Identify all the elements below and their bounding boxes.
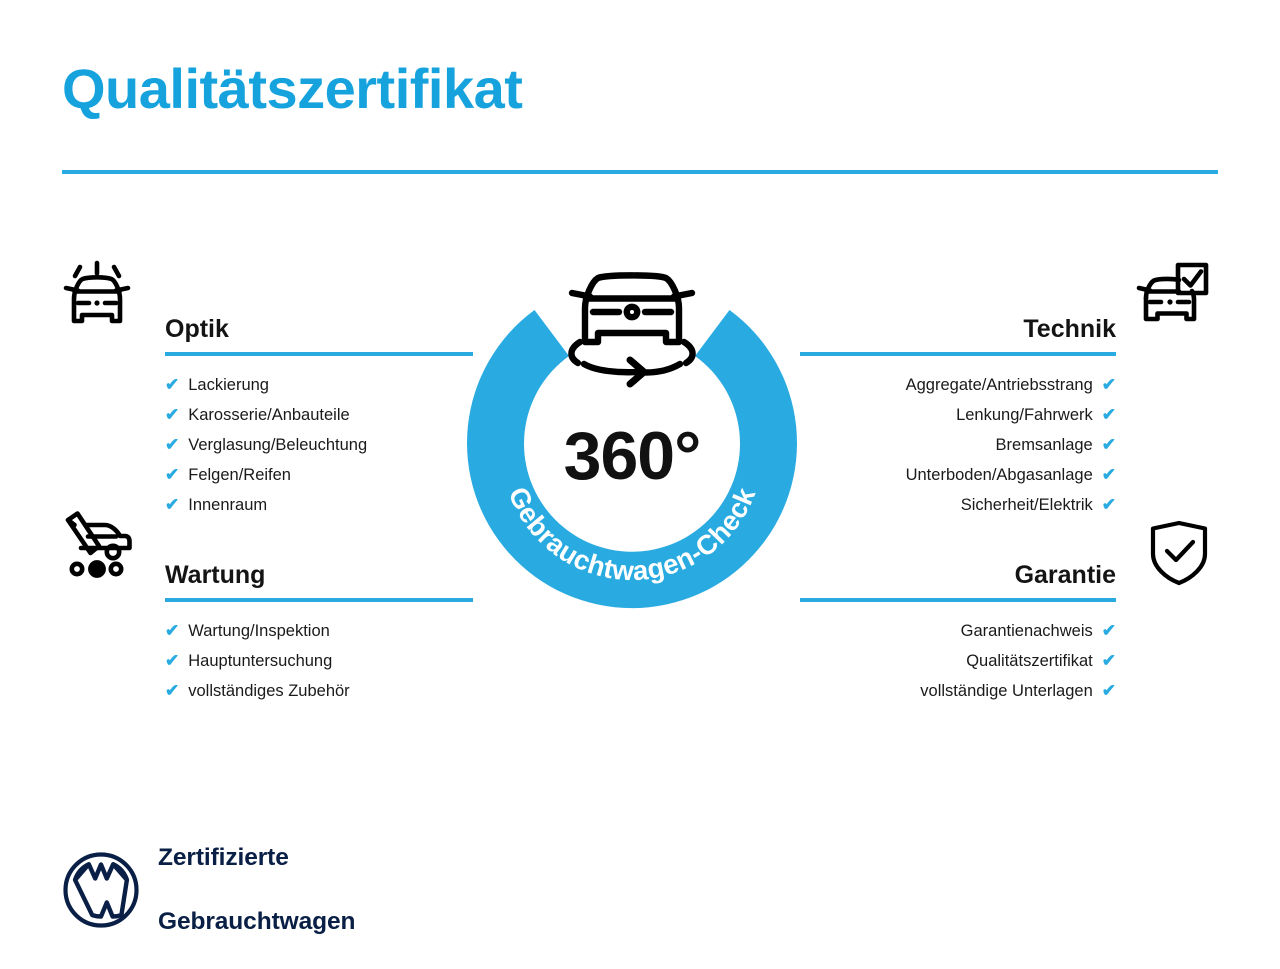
list-item: ✔vollständiges Zubehör [165, 676, 473, 706]
list-item-label: Hauptuntersuchung [188, 646, 332, 676]
vw-lockup-line2: Gebrauchtwagen [158, 906, 355, 938]
pencil-car-service-icon [58, 506, 136, 584]
car-shine-icon [58, 258, 136, 336]
section-optik-title: Optik [165, 317, 229, 342]
check-icon: ✔ [165, 676, 179, 706]
list-item-label: Innenraum [188, 490, 267, 520]
list-item: ✔Innenraum [165, 490, 473, 520]
check-icon: ✔ [165, 400, 179, 430]
car-rotation-360-icon [571, 275, 692, 384]
badge-360-gebrauchtwagen-check: Gebrauchtwagen-Check 360° [462, 248, 802, 620]
section-optik-header: Optik [165, 300, 473, 342]
section-garantie-divider [800, 598, 1116, 602]
list-item-label: vollständiges Zubehör [188, 676, 349, 706]
section-technik: Technik Aggregate/Antriebsstrang✔ Lenkun… [800, 300, 1116, 520]
check-icon: ✔ [165, 646, 179, 676]
page-title: Qualitätszertifikat [62, 58, 522, 120]
list-item: ✔Karosserie/Anbauteile [165, 400, 473, 430]
list-item: ✔Felgen/Reifen [165, 460, 473, 490]
list-item-label: Wartung/Inspektion [188, 616, 330, 646]
list-item: Bremsanlage✔ [800, 430, 1116, 460]
title-divider [62, 170, 1218, 174]
check-icon: ✔ [165, 370, 179, 400]
list-item-label: Felgen/Reifen [188, 460, 291, 490]
check-icon: ✔ [1102, 370, 1116, 400]
section-optik-list: ✔Lackierung ✔Karosserie/Anbauteile ✔Verg… [165, 370, 473, 520]
vw-lockup-line1: Zertifizierte [158, 842, 355, 874]
section-technik-divider [800, 352, 1116, 356]
section-technik-header: Technik [800, 300, 1116, 342]
section-wartung: Wartung ✔Wartung/Inspektion ✔Hauptunters… [165, 546, 473, 706]
list-item-label: Lackierung [188, 370, 269, 400]
section-garantie-list: Garantienachweis✔ Qualitätszertifikat✔ v… [800, 616, 1116, 706]
vw-logo-icon [62, 851, 140, 929]
list-item: ✔Lackierung [165, 370, 473, 400]
list-item: ✔Hauptuntersuchung [165, 646, 473, 676]
check-icon: ✔ [1102, 646, 1116, 676]
check-icon: ✔ [1102, 676, 1116, 706]
section-garantie-title: Garantie [1015, 563, 1116, 588]
section-garantie-header: Garantie [800, 546, 1116, 588]
list-item-label: Unterboden/Abgasanlage [906, 460, 1093, 490]
section-optik: Optik ✔Lackierung ✔Karosserie/Anbauteile… [165, 300, 473, 520]
section-garantie: Garantie Garantienachweis✔ Qualitätszert… [800, 546, 1116, 706]
section-wartung-header: Wartung [165, 546, 473, 588]
list-item-label: Verglasung/Beleuchtung [188, 430, 367, 460]
list-item: Aggregate/Antriebsstrang✔ [800, 370, 1116, 400]
check-icon: ✔ [1102, 460, 1116, 490]
check-icon: ✔ [1102, 490, 1116, 520]
shield-check-icon [1143, 516, 1215, 588]
list-item: ✔Wartung/Inspektion [165, 616, 473, 646]
list-item-label: Bremsanlage [996, 430, 1093, 460]
section-wartung-title: Wartung [165, 563, 265, 588]
list-item: Lenkung/Fahrwerk✔ [800, 400, 1116, 430]
badge-center-label: 360° [564, 418, 701, 494]
list-item: ✔Verglasung/Beleuchtung [165, 430, 473, 460]
vw-lockup-text: Zertifizierte Gebrauchtwagen [158, 810, 355, 969]
check-icon: ✔ [165, 460, 179, 490]
list-item-label: Qualitätszertifikat [966, 646, 1093, 676]
check-icon: ✔ [1102, 400, 1116, 430]
car-checkbox-icon [1133, 258, 1211, 336]
list-item-label: Lenkung/Fahrwerk [956, 400, 1093, 430]
list-item: Unterboden/Abgasanlage✔ [800, 460, 1116, 490]
list-item-label: Karosserie/Anbauteile [188, 400, 349, 430]
section-technik-title: Technik [1023, 317, 1116, 342]
check-icon: ✔ [165, 430, 179, 460]
list-item: Sicherheit/Elektrik✔ [800, 490, 1116, 520]
list-item-label: Sicherheit/Elektrik [961, 490, 1093, 520]
check-icon: ✔ [1102, 430, 1116, 460]
section-wartung-list: ✔Wartung/Inspektion ✔Hauptuntersuchung ✔… [165, 616, 473, 706]
check-icon: ✔ [165, 616, 179, 646]
list-item-label: Garantienachweis [961, 616, 1093, 646]
vw-brand-lockup: Zertifizierte Gebrauchtwagen [62, 810, 355, 969]
list-item-label: Aggregate/Antriebsstrang [906, 370, 1093, 400]
section-optik-divider [165, 352, 473, 356]
section-wartung-divider [165, 598, 473, 602]
list-item: vollständige Unterlagen✔ [800, 676, 1116, 706]
check-icon: ✔ [165, 490, 179, 520]
check-icon: ✔ [1102, 616, 1116, 646]
list-item: Qualitätszertifikat✔ [800, 646, 1116, 676]
section-technik-list: Aggregate/Antriebsstrang✔ Lenkung/Fahrwe… [800, 370, 1116, 520]
list-item: Garantienachweis✔ [800, 616, 1116, 646]
list-item-label: vollständige Unterlagen [920, 676, 1092, 706]
